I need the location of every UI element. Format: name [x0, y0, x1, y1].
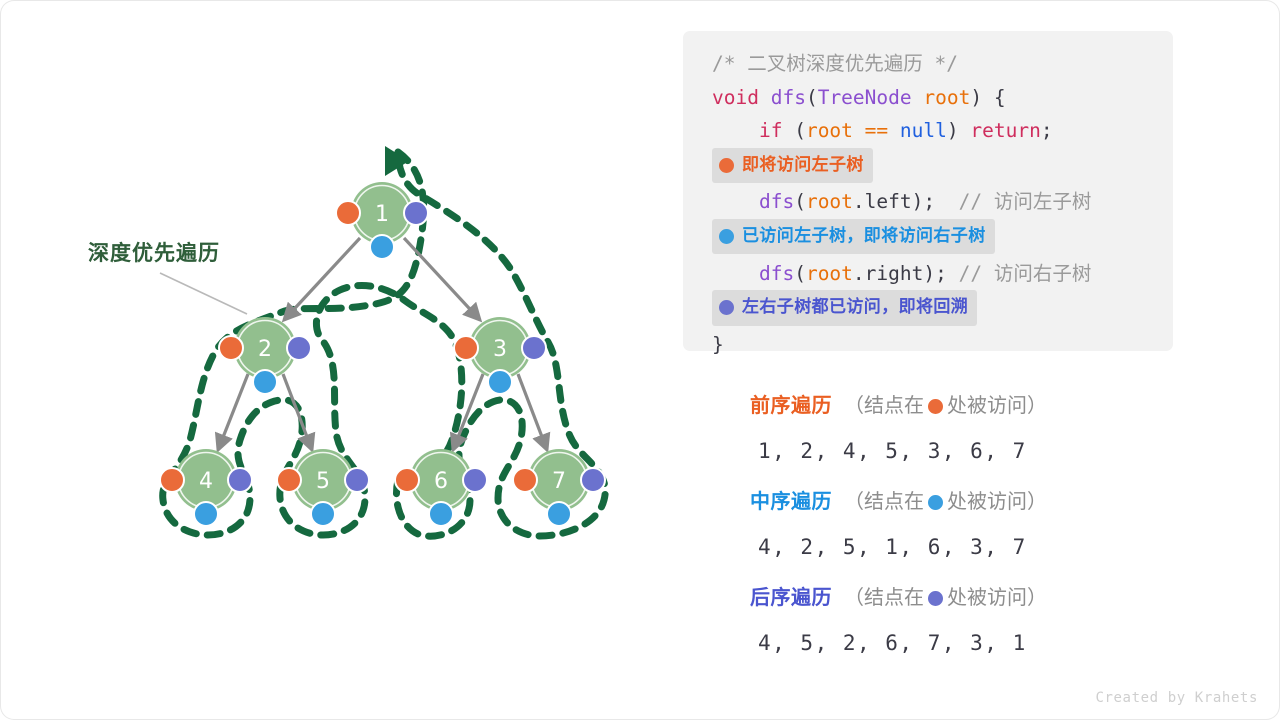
legend-paren-open: （结点在 [844, 393, 924, 417]
node-marker-preorder-orange-dot-icon [395, 468, 419, 492]
note-line-preorder: 即将访问左子树 [683, 148, 1173, 186]
tree-node-3[interactable]: 3 [454, 317, 546, 394]
legend-block-preorder: 前序遍历（结点在处被访问） 1, 2, 4, 5, 3, 6, 7 [750, 382, 1170, 474]
code-line-close: } [683, 328, 1173, 362]
legend-name-postorder: 后序遍历 [750, 585, 832, 609]
blue-dot-icon [719, 229, 734, 244]
legend-name-inorder: 中序遍历 [750, 489, 832, 513]
legend-sequence-postorder: 4, 5, 2, 6, 7, 3, 1 [750, 620, 1170, 666]
node-value: 7 [552, 469, 566, 494]
node-marker-inorder-blue-dot-icon [370, 235, 394, 259]
node-value: 5 [316, 469, 330, 494]
fn-dfs: dfs [759, 262, 794, 285]
note-inorder-text: 已访问左子树，即将访问右子树 [742, 220, 986, 254]
node-marker-postorder-purple-dot-icon [404, 201, 428, 225]
legend-sequence-inorder: 4, 2, 5, 1, 6, 3, 7 [750, 524, 1170, 570]
fn-dfs: dfs [759, 190, 794, 213]
semicolon: ; [923, 190, 935, 213]
var-root: root [806, 119, 853, 142]
node-marker-preorder-orange-dot-icon [277, 468, 301, 492]
comment-visit-right: // 访问右子树 [959, 262, 1092, 285]
var-root: root [806, 262, 853, 285]
legend-head-inorder: 中序遍历（结点在处被访问） [750, 478, 1170, 524]
paren-open: ( [794, 119, 806, 142]
legend-head-preorder: 前序遍历（结点在处被访问） [750, 382, 1170, 428]
brace-open: { [994, 86, 1006, 109]
node-marker-inorder-blue-dot-icon [194, 502, 218, 526]
paren-close: ) [912, 190, 924, 213]
paren-close: ) [923, 262, 935, 285]
node-marker-postorder-purple-dot-icon [345, 468, 369, 492]
tree-node-2[interactable]: 2 [219, 317, 311, 394]
node-value: 3 [493, 337, 507, 362]
node-marker-postorder-purple-dot-icon [287, 336, 311, 360]
node-marker-postorder-purple-dot-icon [581, 468, 605, 492]
legend-paren-close: 处被访问） [947, 585, 1047, 609]
tree-node-6[interactable]: 6 [395, 449, 487, 526]
note-line-postorder: 左右子树都已访问，即将回溯 [683, 290, 1173, 328]
legend-head-postorder: 后序遍历（结点在处被访问） [750, 574, 1170, 620]
node-value: 6 [434, 469, 448, 494]
traversal-legend: 前序遍历（结点在处被访问） 1, 2, 4, 5, 3, 6, 7 中序遍历（结… [750, 382, 1170, 670]
node-marker-preorder-orange-dot-icon [160, 468, 184, 492]
tree-nodes: 1234567 [160, 182, 605, 526]
node-marker-inorder-blue-dot-icon [547, 502, 571, 526]
node-marker-preorder-orange-dot-icon [454, 336, 478, 360]
note-preorder: 即将访问左子树 [712, 148, 873, 184]
label-leader-line [160, 273, 247, 314]
note-postorder: 左右子树都已访问，即将回溯 [712, 290, 977, 326]
purple-dot-icon [719, 300, 734, 315]
note-inorder: 已访问左子树，即将访问右子树 [712, 219, 995, 255]
node-marker-inorder-blue-dot-icon [488, 370, 512, 394]
figure-canvas: 1234567 深度优先遍历 /* 二叉树深度优先遍历 */ void dfs(… [0, 0, 1280, 720]
legend-paren-close: 处被访问） [947, 489, 1047, 513]
legend-block-inorder: 中序遍历（结点在处被访问） 4, 2, 5, 1, 6, 3, 7 [750, 478, 1170, 570]
brace-close: } [712, 333, 724, 356]
dfs-label: 深度优先遍历 [88, 241, 220, 265]
paren-close: ) [947, 119, 959, 142]
blue-dot-icon [928, 495, 943, 510]
node-marker-postorder-purple-dot-icon [522, 336, 546, 360]
legend-block-postorder: 后序遍历（结点在处被访问） 4, 5, 2, 6, 7, 3, 1 [750, 574, 1170, 666]
node-marker-inorder-blue-dot-icon [311, 502, 335, 526]
type-treenode: TreeNode [818, 86, 912, 109]
var-root: root [923, 86, 970, 109]
lit-null: null [900, 119, 947, 142]
note-preorder-text: 即将访问左子树 [742, 149, 864, 183]
field-right: .right [853, 262, 923, 285]
comment-visit-left: // 访问左子树 [959, 190, 1092, 213]
legend-name-preorder: 前序遍历 [750, 393, 832, 417]
fn-dfs: dfs [771, 86, 806, 109]
paren-open: ( [794, 190, 806, 213]
legend-paren-open: （结点在 [844, 585, 924, 609]
semicolon: ; [1041, 119, 1053, 142]
kw-if: if [759, 119, 782, 142]
code-line-signature: void dfs(TreeNode root) { [683, 81, 1173, 115]
legend-sequence-preorder: 1, 2, 4, 5, 3, 6, 7 [750, 428, 1170, 474]
kw-return: return [970, 119, 1040, 142]
edge-2-5 [283, 374, 312, 450]
node-value: 1 [375, 202, 389, 227]
note-line-inorder: 已访问左子树，即将访问右子树 [683, 219, 1173, 257]
footer-credit: Created by Krahets [1095, 690, 1258, 706]
var-root: root [806, 190, 853, 213]
node-marker-inorder-blue-dot-icon [429, 502, 453, 526]
op-equals: == [865, 119, 888, 142]
tree-node-5[interactable]: 5 [277, 449, 369, 526]
code-line-dfs-left: dfs(root.left); // 访问左子树 [683, 185, 1173, 219]
field-left: .left [853, 190, 912, 213]
code-line-comment: /* 二叉树深度优先遍历 */ [683, 47, 1173, 81]
code-line-guard: if (root == null) return; [683, 114, 1173, 148]
paren-open: ( [806, 86, 818, 109]
legend-paren-close: 处被访问） [947, 393, 1047, 417]
kw-void: void [712, 86, 759, 109]
purple-dot-icon [928, 591, 943, 606]
semicolon: ; [935, 262, 947, 285]
node-marker-postorder-purple-dot-icon [228, 468, 252, 492]
paren-close: ) [970, 86, 982, 109]
binary-tree-diagram: 1234567 深度优先遍历 [0, 0, 680, 700]
orange-dot-icon [719, 158, 734, 173]
node-marker-preorder-orange-dot-icon [219, 336, 243, 360]
code-comment-header: /* 二叉树深度优先遍历 */ [712, 52, 958, 75]
node-value: 4 [199, 469, 213, 494]
code-line-dfs-right: dfs(root.right); // 访问右子树 [683, 257, 1173, 291]
legend-paren-open: （结点在 [844, 489, 924, 513]
node-marker-preorder-orange-dot-icon [336, 201, 360, 225]
code-panel: /* 二叉树深度优先遍历 */ void dfs(TreeNode root) … [683, 31, 1173, 351]
note-postorder-text: 左右子树都已访问，即将回溯 [742, 291, 968, 325]
paren-open: ( [794, 262, 806, 285]
node-value: 2 [258, 337, 272, 362]
node-marker-postorder-purple-dot-icon [463, 468, 487, 492]
node-marker-preorder-orange-dot-icon [513, 468, 537, 492]
node-marker-inorder-blue-dot-icon [253, 370, 277, 394]
orange-dot-icon [928, 399, 943, 414]
